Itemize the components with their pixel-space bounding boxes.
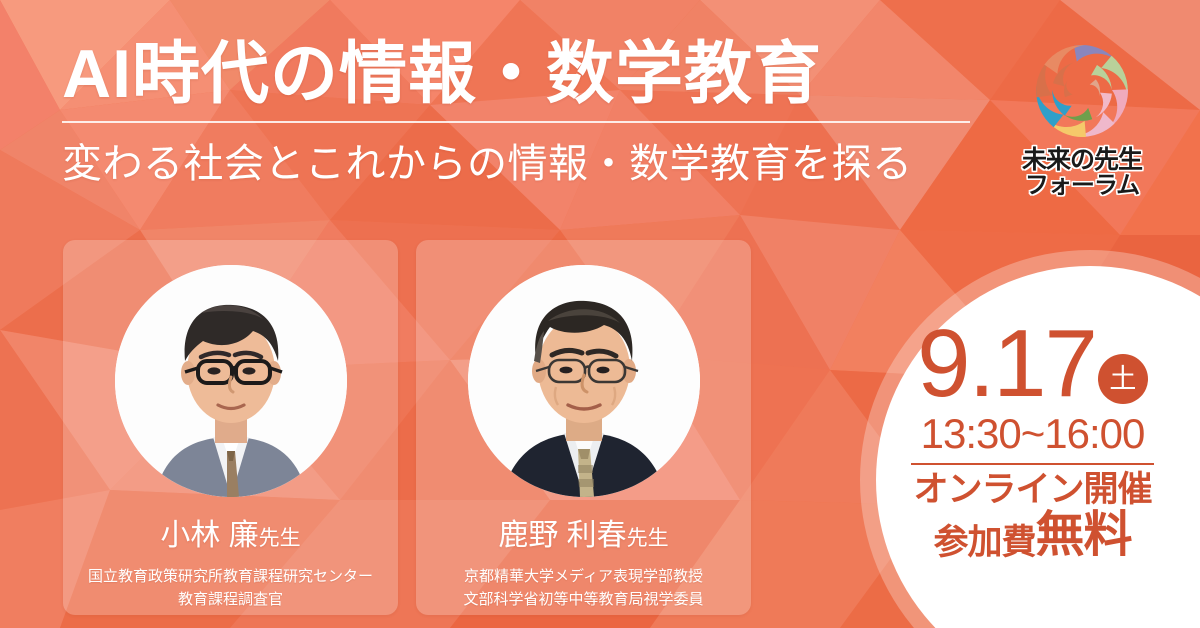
- spiral-logo-icon: [1027, 36, 1137, 146]
- affiliation-line-2: 文部科学省初等中等教育局視学委員: [416, 588, 751, 611]
- speaker-name: 小林 廉先生: [63, 510, 398, 554]
- event-date: 9.17: [917, 320, 1096, 408]
- fee-prefix: 参加費: [933, 525, 1035, 560]
- speaker-photo: [468, 265, 700, 497]
- event-date-row: 9.17 土: [905, 320, 1160, 408]
- poster-header: AI時代の情報・数学教育 変わる社会とこれからの情報・数学教育を探る: [62, 38, 1022, 189]
- weekday-badge: 土: [1098, 354, 1148, 404]
- fee-value: 無料: [1036, 511, 1132, 560]
- event-mode: オンライン開催: [905, 470, 1160, 509]
- logo-text-line1: 未来の先生: [1000, 148, 1164, 174]
- speaker-card: 小林 廉先生 国立教育政策研究所教育課程研究センター 教育課程調査官: [63, 240, 398, 615]
- affiliation-line-1: 国立教育政策研究所教育課程研究センター: [63, 565, 398, 588]
- event-time: 13:30~16:00: [905, 410, 1160, 457]
- event-divider: [911, 463, 1154, 465]
- avatar: [468, 265, 700, 497]
- affiliation-line-1: 京都精華大学メディア表現学部教授: [416, 565, 751, 588]
- affiliation-line-2: 教育課程調査官: [63, 588, 398, 611]
- event-details: 9.17 土 13:30~16:00 オンライン開催 参加費 無料: [905, 320, 1160, 560]
- logo-text-line2: フォーラム: [1000, 174, 1164, 198]
- event-fee: 参加費 無料: [905, 511, 1160, 560]
- speaker-card: 鹿野 利春先生 京都精華大学メディア表現学部教授 文部科学省初等中等教育局視学委…: [416, 240, 751, 615]
- speaker-affiliation: 京都精華大学メディア表現学部教授 文部科学省初等中等教育局視学委員: [416, 565, 751, 612]
- poster-canvas: AI時代の情報・数学教育 変わる社会とこれからの情報・数学教育を探る: [0, 0, 1200, 628]
- speaker-name: 鹿野 利春先生: [416, 510, 751, 554]
- title-divider: [62, 121, 970, 123]
- forum-logo: 未来の先生 フォーラム: [1000, 36, 1164, 198]
- page-title: AI時代の情報・数学教育: [62, 38, 1022, 111]
- avatar: [115, 265, 347, 497]
- page-subtitle: 変わる社会とこれからの情報・数学教育を探る: [62, 131, 1022, 189]
- speaker-photo: [115, 265, 347, 497]
- speaker-affiliation: 国立教育政策研究所教育課程研究センター 教育課程調査官: [63, 565, 398, 612]
